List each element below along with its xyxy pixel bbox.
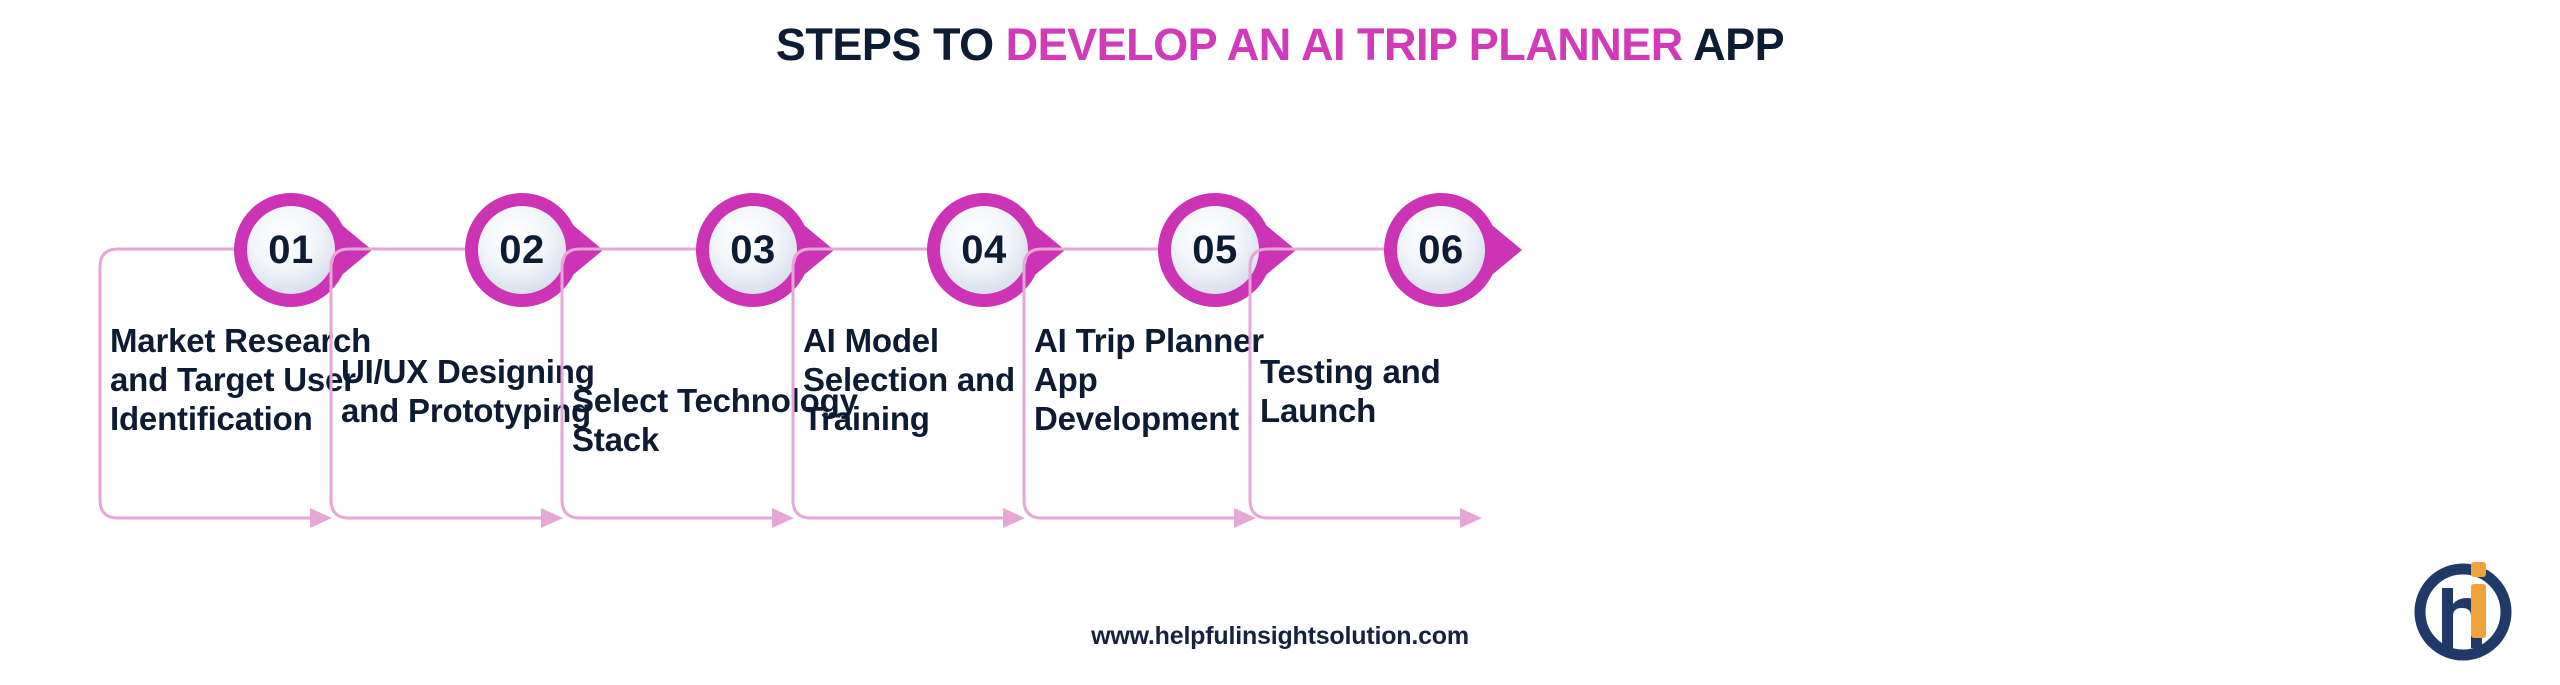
step-number-06: 06 xyxy=(1382,191,1500,309)
step-label-06: Testing and Launch xyxy=(1260,353,1660,431)
card-outline-06 xyxy=(1246,0,1666,685)
step-card-06[interactable]: 06 Testing and Launch xyxy=(1246,0,1666,685)
steps-flow: 01 Market Research and Target User Ident… xyxy=(0,0,2560,685)
infographic-canvas: STEPS TO DEVELOP AN AI TRIP PLANNER APP xyxy=(0,0,2560,685)
footer-website-url: www.helpfulinsightsolution.com xyxy=(0,622,2560,651)
brand-logo-icon xyxy=(2405,548,2530,673)
step-badge-06[interactable]: 06 xyxy=(1382,191,1500,309)
